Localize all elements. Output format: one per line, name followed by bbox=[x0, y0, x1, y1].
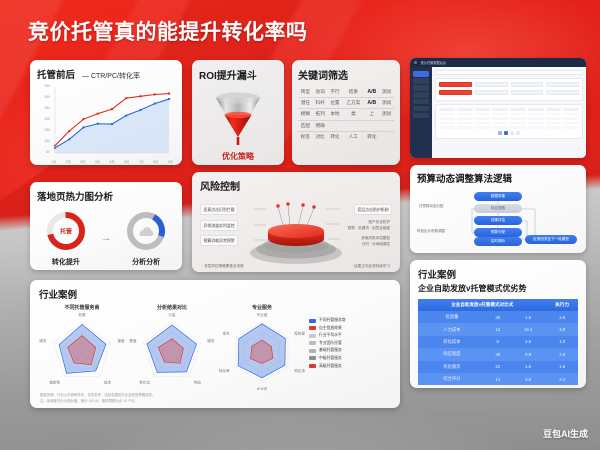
legend-swatch bbox=[309, 341, 316, 345]
cell: 测试 bbox=[379, 109, 394, 120]
table-row: 潜在 科杆 位置 乙方案 A/B 测试 bbox=[298, 98, 394, 109]
keyword-filter-title: 关键词筛选 bbox=[298, 67, 394, 82]
y-tick: 150 bbox=[37, 128, 50, 132]
filter-field[interactable] bbox=[546, 82, 579, 87]
highlighted-field[interactable] bbox=[439, 82, 472, 87]
industry-table-body: 投放量 30 1.6 2.6 人力成本 12 18.4 4.8 转化成本 8 2… bbox=[418, 311, 578, 385]
radar-footnote-1: 数据来源：行业公开调研样本，仅供参考，实际效果因行业及投放策略而异。 bbox=[40, 392, 155, 397]
sidebar-item[interactable] bbox=[413, 92, 429, 98]
td bbox=[563, 113, 579, 115]
y-tick: 50 bbox=[37, 150, 50, 154]
legend-swatch bbox=[309, 319, 316, 323]
table-row bbox=[439, 122, 579, 124]
radar-case-title: 行业案例 bbox=[39, 287, 391, 301]
td bbox=[439, 122, 455, 124]
table-row: 标签 对比 转化 人工 转化 bbox=[298, 131, 394, 142]
legend-label: 专业团队托管 bbox=[319, 341, 342, 346]
td bbox=[492, 122, 508, 124]
risk-note-right-1: 账户安全防护 bbox=[368, 220, 390, 225]
table-row: 转型 动词 不行 结果 A/B 测试 bbox=[298, 87, 394, 98]
td bbox=[475, 117, 491, 119]
cell: 4.8 bbox=[546, 323, 578, 335]
cell: 综合评分 bbox=[418, 373, 486, 385]
td bbox=[439, 113, 455, 115]
cell: 转化成本 bbox=[418, 336, 486, 348]
svg-text:投放量: 投放量 bbox=[294, 331, 305, 336]
cell: 转型 bbox=[298, 87, 313, 98]
risk-note-right-2: 多维风险评估模型 bbox=[361, 236, 390, 241]
keyword-filter-card: 关键词筛选 转型 动词 不行 结果 A/B 测试 潜在 科杆 位置 乙方案 A/… bbox=[292, 60, 400, 165]
td bbox=[439, 117, 455, 119]
cell: 人力成本 bbox=[418, 323, 486, 335]
sidebar-item[interactable] bbox=[413, 78, 429, 84]
legend-swatch bbox=[309, 349, 316, 353]
donut-right-group: 分析分析 bbox=[123, 208, 169, 267]
line-chart-y-axis: 350 300 250 200 150 100 50 bbox=[37, 84, 50, 154]
page-number-button[interactable] bbox=[510, 131, 514, 135]
x-tick: 8月 bbox=[153, 159, 158, 164]
cell: A/B bbox=[364, 87, 379, 98]
keyword-filter-table: 转型 动词 不行 结果 A/B 测试 潜在 科杆 位置 乙方案 A/B 测试 模… bbox=[298, 87, 394, 142]
flow-node-3: 效果评估 bbox=[474, 216, 522, 225]
td bbox=[563, 122, 579, 124]
table-row: 人力成本 12 18.4 4.8 bbox=[418, 323, 578, 335]
td bbox=[546, 117, 562, 119]
legend-item: 专业团队托管 bbox=[309, 341, 346, 346]
dashboard-sidebar[interactable] bbox=[410, 67, 432, 158]
legend-swatch bbox=[309, 334, 316, 338]
roi-funnel-title: ROI提升漏斗 bbox=[199, 67, 277, 82]
svg-text:成本: 成本 bbox=[223, 331, 231, 336]
risk-note-right-2b: 分时 · 分地域调控 bbox=[362, 242, 390, 247]
analysis-donut-chart bbox=[123, 208, 169, 254]
table-row: 模糊 拓列 本地 类 上 测试 bbox=[298, 109, 394, 120]
cell: 转化 bbox=[328, 131, 343, 142]
flow-node-2: 特征提取 bbox=[474, 204, 522, 213]
cell: 科杆 bbox=[313, 98, 328, 109]
table-row bbox=[439, 117, 579, 119]
cell bbox=[379, 120, 394, 131]
table-row: 综合评分 14 3.8 3.4 bbox=[418, 373, 578, 385]
risk-control-card: 风险控制 bbox=[192, 172, 400, 272]
heatmap-analysis-title: 落地页热力图分析 bbox=[37, 189, 175, 203]
cell: 2.5 bbox=[510, 336, 547, 348]
roi-funnel-caption: 优化策略 bbox=[222, 151, 254, 162]
td bbox=[510, 126, 526, 128]
funnel-icon bbox=[207, 87, 269, 149]
radar-footnote-2: 注：各维度评分为相对值，满分 100 分，取样周期为近 12 个月。 bbox=[40, 398, 138, 403]
table-row: 响应速度 39 0.9 2.8 bbox=[418, 348, 578, 360]
roi-funnel-card: ROI提升漏斗 bbox=[192, 60, 284, 165]
td bbox=[457, 126, 473, 128]
td bbox=[563, 126, 579, 128]
table-row bbox=[439, 113, 579, 115]
y-tick: 100 bbox=[37, 139, 50, 143]
td bbox=[546, 113, 562, 115]
sidebar-item[interactable] bbox=[413, 106, 429, 112]
industry-table-card: 行业案例 企业自助发放v托管模式优劣势 企业自助发放v托管模式对比式 执行力 投… bbox=[410, 260, 586, 388]
cell: 1.9 bbox=[546, 361, 578, 373]
th bbox=[475, 108, 491, 111]
sidebar-item[interactable] bbox=[413, 85, 429, 91]
risk-note-right-1b: 预算 · 关键词 · 创意全维度 bbox=[348, 226, 390, 231]
td bbox=[528, 126, 544, 128]
x-tick: 5月 bbox=[109, 159, 114, 164]
page-next-button[interactable] bbox=[516, 131, 520, 135]
cell: 模糊 bbox=[298, 109, 313, 120]
legend-label: 高级托管服务 bbox=[319, 364, 342, 369]
pagination[interactable] bbox=[439, 131, 579, 135]
cell: 潜在 bbox=[298, 98, 313, 109]
sidebar-item[interactable] bbox=[413, 99, 429, 105]
th bbox=[492, 108, 508, 111]
x-tick: 4月 bbox=[95, 159, 100, 164]
radar-chart-1: 效果速度成本稳定性服务 bbox=[39, 312, 125, 390]
dashboard-body bbox=[410, 67, 586, 158]
filter-row bbox=[439, 90, 579, 95]
risk-label-left-2: 异常流量实时监控 bbox=[200, 220, 238, 231]
legend-label: 行业平均水平 bbox=[319, 333, 342, 338]
x-tick: 1月 bbox=[51, 159, 56, 164]
y-tick: 250 bbox=[37, 106, 50, 110]
budget-flowchart: 数据采集 特征提取 效果评估 预算分配 实时调价 反馈回流至下一轮模型 日预算动… bbox=[417, 187, 579, 251]
column-header: 企业自助发放v托管模式对比式 bbox=[418, 299, 546, 311]
cell: 结果 bbox=[342, 87, 364, 98]
cell: A/B bbox=[364, 98, 379, 109]
td bbox=[492, 117, 508, 119]
watermark: 豆包AI生成 bbox=[543, 427, 588, 440]
cell: 测试 bbox=[379, 98, 394, 109]
conversion-donut-chart: 托管 bbox=[43, 208, 89, 254]
dashboard-data-table bbox=[435, 104, 583, 139]
radar-legend: 不同托管服务商 自主投放效果 行业平均水平 专业团队托管 基础托管服务 中级托管… bbox=[309, 304, 346, 369]
radar-title-1: 不同托管服务商 bbox=[64, 304, 99, 311]
radar-chart-3: 专业度投放量响应快优化率转化率成本 bbox=[219, 312, 305, 390]
risk-label-left-1: 恶意点击识别拦截 bbox=[200, 204, 238, 215]
arrow-right-icon: → bbox=[100, 232, 111, 244]
dashboard-window: 竞价托管数据后台 bbox=[410, 58, 586, 158]
cell: 测试 bbox=[379, 87, 394, 98]
radar-chart-row: 不同托管服务商 效果速度成本稳定性服务 分析结果对比 分量服务响应性价比覆盖 专… bbox=[39, 304, 391, 390]
cell: 22 bbox=[486, 361, 510, 373]
table-row: 优化频次 22 1.5 1.9 bbox=[418, 361, 578, 373]
filter-field[interactable] bbox=[475, 82, 508, 87]
cell bbox=[342, 120, 364, 131]
radar-group-1: 不同托管服务商 效果速度成本稳定性服务 bbox=[39, 304, 125, 390]
dashboard-screenshot-card: 竞价托管数据后台 bbox=[410, 58, 586, 158]
cell bbox=[328, 120, 343, 131]
donut-left-caption: 转化提升 bbox=[52, 257, 80, 267]
svg-text:转化率: 转化率 bbox=[219, 368, 230, 373]
td bbox=[457, 113, 473, 115]
cell: 上 bbox=[364, 109, 379, 120]
flow-node-5: 实时调价 bbox=[474, 237, 522, 246]
dashboard-main bbox=[432, 67, 586, 158]
td bbox=[528, 113, 544, 115]
cell: 明确 bbox=[313, 120, 328, 131]
svg-text:服务: 服务 bbox=[207, 338, 215, 343]
cell bbox=[364, 120, 379, 131]
cell: 拓列 bbox=[313, 109, 328, 120]
th bbox=[528, 108, 544, 111]
cell: 12 bbox=[486, 323, 510, 335]
td bbox=[475, 126, 491, 128]
filter-field[interactable] bbox=[511, 90, 544, 95]
page-number-button[interactable] bbox=[504, 131, 508, 135]
legend-label: 基础托管服务 bbox=[319, 348, 342, 353]
table-row: 匹配 明确 bbox=[298, 120, 394, 131]
risk-label-right-1: 竞品点击防护机制 bbox=[354, 204, 392, 215]
line-chart-title: 托管前后 bbox=[37, 67, 75, 81]
cell: 乙方案 bbox=[342, 98, 364, 109]
legend-item: 中级托管服务 bbox=[309, 356, 346, 361]
line-chart-header: 托管前后 — CTR/PC/转化率 bbox=[37, 67, 175, 81]
budget-algorithm-title: 预算动态调整算法逻辑 bbox=[417, 171, 579, 185]
sidebar-item[interactable] bbox=[413, 71, 429, 77]
th bbox=[510, 108, 526, 111]
cell: 1.5 bbox=[510, 361, 547, 373]
legend-item: 行业平均水平 bbox=[309, 333, 346, 338]
y-tick: 200 bbox=[37, 117, 50, 121]
industry-table-title: 行业案例 bbox=[418, 267, 578, 281]
cell: 14 bbox=[486, 373, 510, 385]
cell: 2.6 bbox=[546, 311, 578, 323]
td bbox=[546, 126, 562, 128]
cell: 人工 bbox=[342, 131, 364, 142]
y-tick: 300 bbox=[37, 95, 50, 99]
cell: 标签 bbox=[298, 131, 313, 142]
th bbox=[457, 108, 473, 111]
flow-label-2: 时段出价系数调整 bbox=[417, 229, 445, 234]
page-title: 竞价托管真的能提升转化率吗 bbox=[28, 16, 308, 46]
risk-label-left-3: 预算消耗异常预警 bbox=[200, 235, 238, 246]
legend-item: 基础托管服务 bbox=[309, 348, 346, 353]
heatmap-analysis-card: 落地页热力图分析 托管 转化提升 → 分析分析 bbox=[30, 182, 182, 270]
flow-node-feedback: 反馈回流至下一轮模型 bbox=[525, 235, 577, 244]
risk-control-diagram: 恶意点击识别拦截 异常流量实时监控 预算消耗异常预警 竞品点击防护机制 账户安全… bbox=[200, 195, 392, 269]
cell: 30 bbox=[486, 311, 510, 323]
filter-field[interactable] bbox=[475, 90, 508, 95]
svg-text:响应快: 响应快 bbox=[294, 368, 305, 373]
legend-swatch bbox=[309, 364, 316, 368]
industry-comparison-table: 企业自助发放v托管模式对比式 执行力 投放量 30 1.6 2.6 人力成本 1… bbox=[418, 299, 578, 385]
column-header: 执行力 bbox=[546, 299, 578, 311]
donut-center-label: 托管 bbox=[60, 228, 72, 236]
poster-canvas: 竞价托管真的能提升转化率吗 托管前后 — CTR/PC/转化率 350 300 … bbox=[0, 0, 600, 450]
industry-table-subtitle: 企业自助发放v托管模式优劣势 bbox=[418, 283, 578, 294]
svg-text:专业度: 专业度 bbox=[257, 312, 268, 317]
svg-text:成本: 成本 bbox=[104, 379, 112, 384]
cell: 动词 bbox=[313, 87, 328, 98]
dashboard-filter-panel bbox=[435, 78, 583, 101]
cell: 39 bbox=[486, 348, 510, 360]
td bbox=[439, 126, 455, 128]
cell: 投放量 bbox=[418, 311, 486, 323]
risk-control-title: 风险控制 bbox=[200, 178, 392, 193]
page-prev-button[interactable] bbox=[498, 131, 502, 135]
cell: 3.4 bbox=[546, 373, 578, 385]
td bbox=[563, 117, 579, 119]
table-row: 投放量 30 1.6 2.6 bbox=[418, 311, 578, 323]
svg-text:稳定性: 稳定性 bbox=[49, 379, 60, 384]
legend-item: 自主投放效果 bbox=[309, 326, 346, 331]
svg-text:服务: 服务 bbox=[39, 338, 47, 343]
td bbox=[492, 126, 508, 128]
sidebar-item[interactable] bbox=[413, 113, 429, 119]
filter-field[interactable] bbox=[546, 90, 579, 95]
cell: 3.8 bbox=[510, 373, 547, 385]
svg-text:覆盖: 覆盖 bbox=[129, 338, 137, 343]
window-dot-icon bbox=[414, 61, 417, 64]
td bbox=[528, 122, 544, 124]
highlighted-field[interactable] bbox=[439, 90, 472, 95]
line-chart-x-axis: 1月 2月 3月 4月 5月 6月 7月 8月 9月 bbox=[51, 159, 173, 164]
th bbox=[546, 108, 562, 111]
legend-item: 不同托管服务商 bbox=[309, 318, 346, 323]
flow-label-1: 日预算动态分配 bbox=[419, 204, 444, 209]
table-header-row: 企业自助发放v托管模式对比式 执行力 bbox=[418, 299, 578, 311]
cell: 不行 bbox=[328, 87, 343, 98]
th bbox=[439, 108, 455, 111]
legend-item: 高级托管服务 bbox=[309, 364, 346, 369]
dashboard-breadcrumb-bar bbox=[435, 70, 583, 75]
dashboard-window-title: 竞价托管数据后台 bbox=[421, 60, 447, 65]
svg-text:速度: 速度 bbox=[117, 338, 125, 343]
line-chart-subtitle: — CTR/PC/转化率 bbox=[82, 71, 140, 81]
heatmap-donuts: 托管 转化提升 → 分析分析 bbox=[37, 208, 175, 267]
svg-text:效果: 效果 bbox=[78, 312, 86, 317]
risk-footnote-left: · 多层风控策略覆盖全流程 bbox=[202, 264, 244, 269]
td bbox=[528, 117, 544, 119]
cell: 1.6 bbox=[510, 311, 547, 323]
td bbox=[510, 117, 526, 119]
x-tick: 7月 bbox=[138, 159, 143, 164]
radar-chart-2: 分量服务响应性价比覆盖 bbox=[129, 312, 215, 390]
x-tick: 3月 bbox=[80, 159, 85, 164]
radar-title-2: 分析结果对比 bbox=[157, 304, 187, 311]
cell: 对比 bbox=[313, 131, 328, 142]
td bbox=[510, 113, 526, 115]
radar-group-3: 专业服务 专业度投放量响应快优化率转化率成本 bbox=[219, 304, 305, 390]
td bbox=[492, 113, 508, 115]
donut-right-caption: 分析分析 bbox=[132, 257, 160, 267]
flow-node-1: 数据采集 bbox=[474, 192, 522, 201]
cell bbox=[379, 131, 394, 142]
x-tick: 2月 bbox=[66, 159, 71, 164]
cell: 8 bbox=[486, 336, 510, 348]
dashboard-titlebar: 竞价托管数据后台 bbox=[410, 58, 586, 67]
cloud-icon bbox=[140, 227, 154, 236]
td bbox=[475, 113, 491, 115]
legend-swatch bbox=[309, 326, 316, 330]
cell: 转化 bbox=[364, 131, 379, 142]
svg-text:优化率: 优化率 bbox=[257, 387, 268, 391]
td bbox=[457, 122, 473, 124]
budget-algorithm-card: 预算动态调整算法逻辑 数据采集 特征提取 效果评估 预算分配 实时调价 反馈回流… bbox=[410, 165, 586, 253]
filter-field[interactable] bbox=[511, 82, 544, 87]
x-tick: 9月 bbox=[168, 159, 173, 164]
donut-left-group: 托管 转化提升 bbox=[43, 208, 89, 267]
cell: 优化频次 bbox=[418, 361, 486, 373]
cell: 1.0 bbox=[546, 336, 578, 348]
td bbox=[546, 122, 562, 124]
td bbox=[510, 122, 526, 124]
cell: 匹配 bbox=[298, 120, 313, 131]
svg-text:响应: 响应 bbox=[194, 379, 202, 384]
cell: 2.8 bbox=[546, 348, 578, 360]
td bbox=[457, 117, 473, 119]
cell: 18.4 bbox=[510, 323, 547, 335]
y-tick: 350 bbox=[37, 84, 50, 88]
roi-funnel-graphic: 优化策略 bbox=[199, 87, 277, 162]
x-tick: 6月 bbox=[124, 159, 129, 164]
risk-footnote-right: · 结果正向反馈持续学习 bbox=[352, 264, 390, 269]
table-row bbox=[439, 126, 579, 128]
legend-label: 中级托管服务 bbox=[319, 356, 342, 361]
legend-label: 自主投放效果 bbox=[319, 326, 342, 331]
filter-row bbox=[439, 82, 579, 87]
cell: 本地 bbox=[328, 109, 343, 120]
cell: 类 bbox=[342, 109, 364, 120]
radar-title-3: 专业服务 bbox=[252, 304, 272, 311]
td bbox=[475, 122, 491, 124]
svg-text:分量: 分量 bbox=[168, 312, 176, 317]
radar-group-2: 分析结果对比 分量服务响应性价比覆盖 bbox=[129, 304, 215, 390]
radar-case-card: 行业案例 不同托管服务商 效果速度成本稳定性服务 分析结果对比 分量服务响应性价… bbox=[30, 280, 400, 408]
legend-swatch bbox=[309, 356, 316, 360]
line-chart-svg bbox=[51, 84, 173, 156]
table-row: 转化成本 8 2.5 1.0 bbox=[418, 336, 578, 348]
line-chart-card: 托管前后 — CTR/PC/转化率 350 300 250 200 150 10… bbox=[30, 60, 182, 165]
svg-text:性价比: 性价比 bbox=[139, 379, 150, 384]
cell: 响应速度 bbox=[418, 348, 486, 360]
cell: 0.9 bbox=[510, 348, 547, 360]
line-chart-plot: 350 300 250 200 150 100 50 1月 2月 3月 4月 5… bbox=[37, 84, 175, 164]
flow-node-4: 预算分配 bbox=[474, 228, 522, 237]
legend-label: 不同托管服务商 bbox=[319, 318, 346, 323]
th bbox=[563, 108, 579, 111]
table-header-row bbox=[439, 108, 579, 111]
cell: 位置 bbox=[328, 98, 343, 109]
